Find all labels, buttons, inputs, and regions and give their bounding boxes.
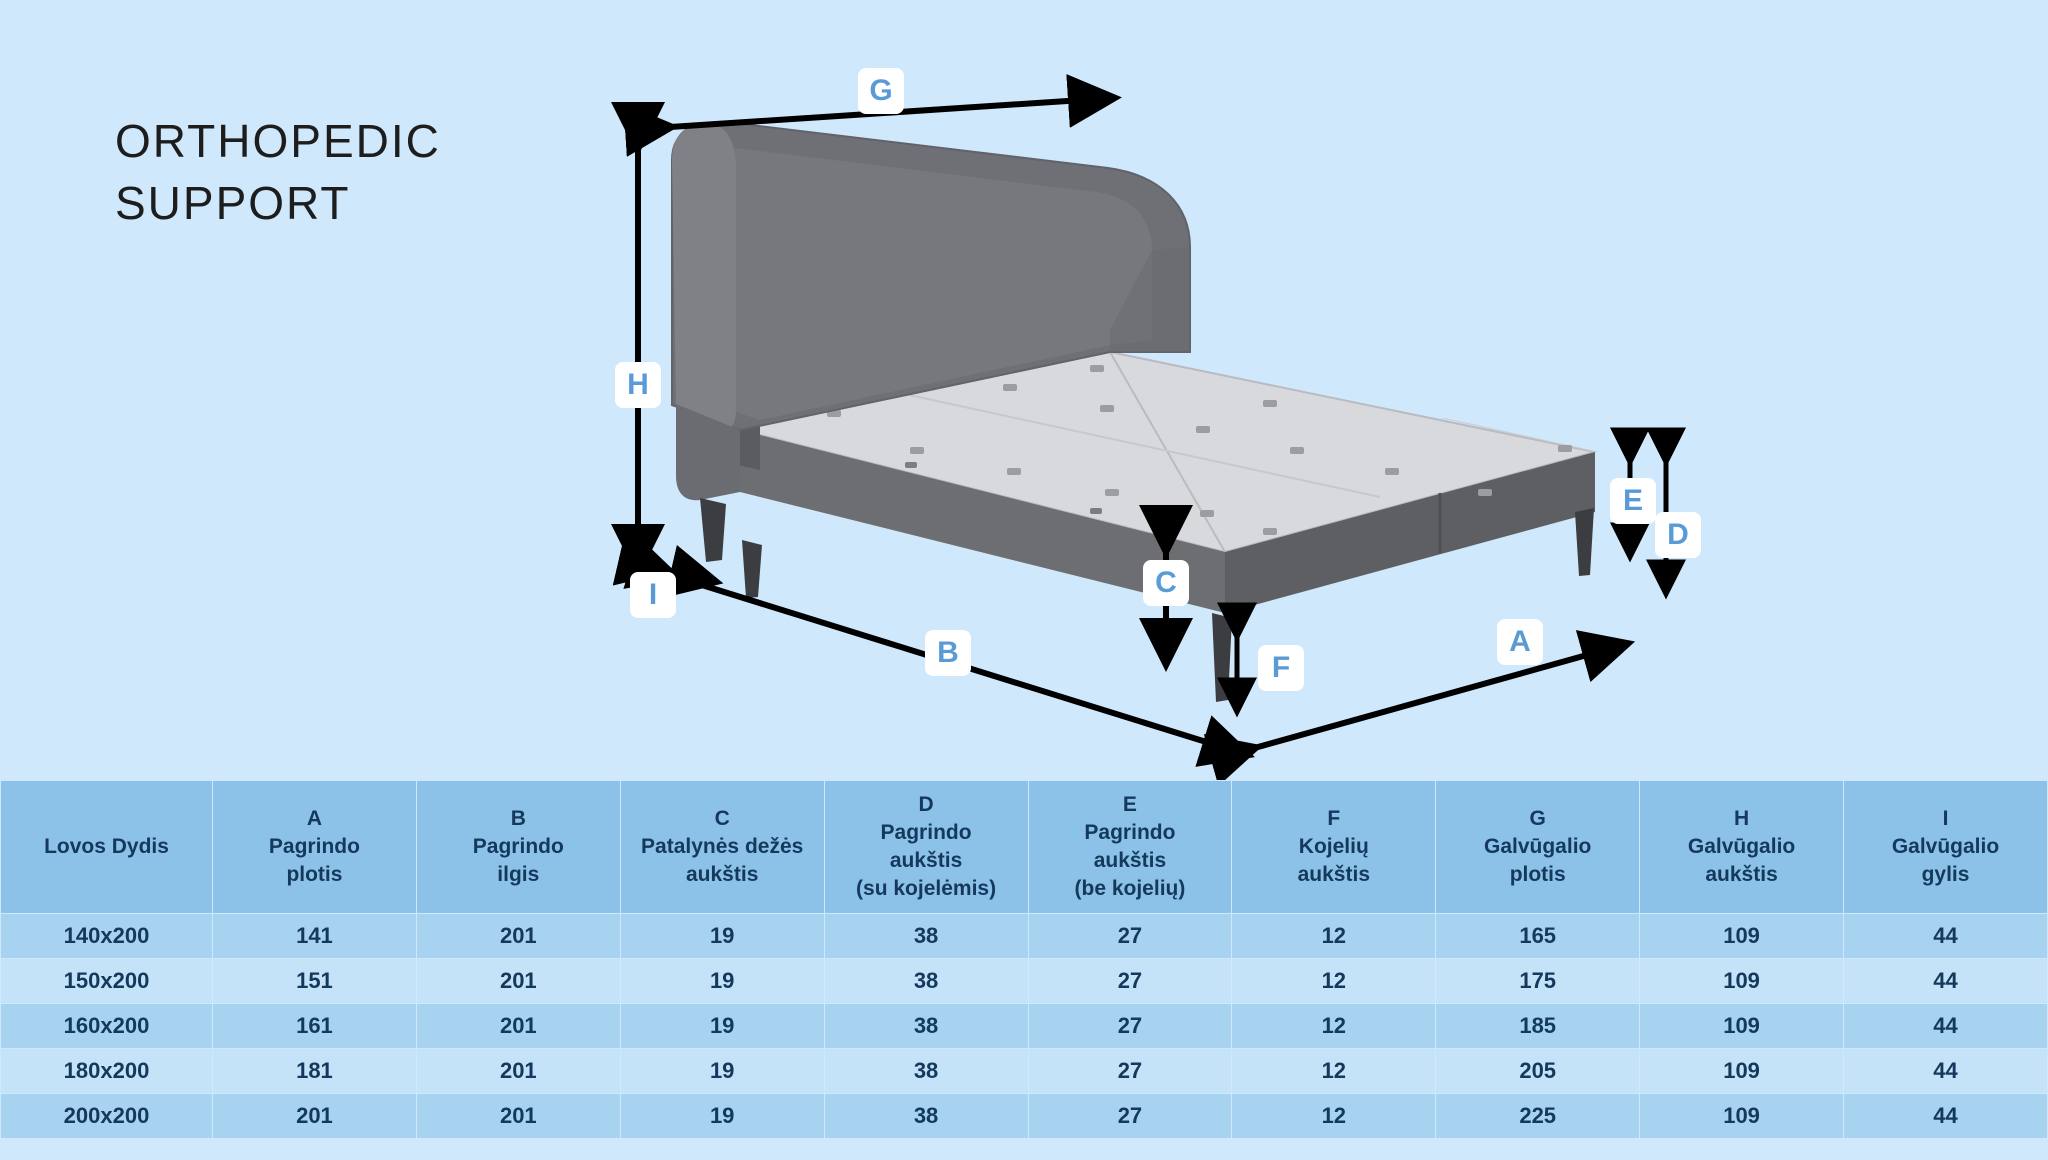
table-body: 140x200 141 201 19 38 27 12 165 109 44 1… xyxy=(1,914,2048,1139)
dimension-label-g: G xyxy=(858,68,904,114)
table-cell: 175 xyxy=(1436,959,1640,1004)
header-line: aukštis xyxy=(890,849,962,872)
header-letter: D xyxy=(829,791,1024,819)
header-letter: H xyxy=(1644,805,1839,833)
table-cell: 27 xyxy=(1028,1049,1232,1094)
table-cell: 27 xyxy=(1028,1004,1232,1049)
table-cell: 44 xyxy=(1844,1004,2048,1049)
table-cell: 201 xyxy=(416,914,620,959)
table-cell: 180x200 xyxy=(1,1049,213,1094)
header-letter: C xyxy=(625,805,820,833)
header-line: ilgis xyxy=(497,863,539,886)
dimension-label-c: C xyxy=(1143,560,1189,606)
table-header-cell: D Pagrindo aukštis (su kojelėmis) xyxy=(824,781,1028,914)
table-cell: 12 xyxy=(1232,959,1436,1004)
table-cell: 27 xyxy=(1028,1094,1232,1139)
table-cell: 38 xyxy=(824,959,1028,1004)
table-header-cell: E Pagrindo aukštis (be kojelių) xyxy=(1028,781,1232,914)
table-cell: 140x200 xyxy=(1,914,213,959)
table-header-row: Lovos Dydis A Pagrindo plotis B Pagrindo… xyxy=(1,781,2048,914)
header-line: Patalynės dežės xyxy=(641,835,803,858)
table-header-cell: Lovos Dydis xyxy=(1,781,213,914)
table-cell: 151 xyxy=(213,959,417,1004)
table-cell: 27 xyxy=(1028,959,1232,1004)
header-line: aukštis xyxy=(686,863,758,886)
table-cell: 44 xyxy=(1844,914,2048,959)
dimension-label-d: D xyxy=(1655,512,1701,558)
table-cell: 109 xyxy=(1640,1004,1844,1049)
header-line: Kojelių xyxy=(1299,835,1369,858)
header-line: Pagrindo xyxy=(1084,821,1175,844)
table-cell: 200x200 xyxy=(1,1094,213,1139)
table-header-cell: G Galvūgalio plotis xyxy=(1436,781,1640,914)
dimension-label-a: A xyxy=(1497,619,1543,665)
table-cell: 12 xyxy=(1232,1094,1436,1139)
table-cell: 44 xyxy=(1844,959,2048,1004)
header-line: aukštis xyxy=(1094,849,1166,872)
header-line: (su kojelėmis) xyxy=(856,877,996,900)
header-letter: I xyxy=(1848,805,2043,833)
table-cell: 160x200 xyxy=(1,1004,213,1049)
table-cell: 109 xyxy=(1640,1049,1844,1094)
header-letter: G xyxy=(1440,805,1635,833)
table-cell: 38 xyxy=(824,1049,1028,1094)
table-row: 140x200 141 201 19 38 27 12 165 109 44 xyxy=(1,914,2048,959)
header-line: gylis xyxy=(1922,863,1970,886)
table-cell: 38 xyxy=(824,1094,1028,1139)
table-row: 150x200 151 201 19 38 27 12 175 109 44 xyxy=(1,959,2048,1004)
table-row: 160x200 161 201 19 38 27 12 185 109 44 xyxy=(1,1004,2048,1049)
size-table: Lovos Dydis A Pagrindo plotis B Pagrindo… xyxy=(0,780,2048,1139)
header-line: aukštis xyxy=(1705,863,1777,886)
header-line: Galvūgalio xyxy=(1892,835,1999,858)
bed-diagram-svg xyxy=(0,0,2048,780)
table-cell: 225 xyxy=(1436,1094,1640,1139)
header-letter: A xyxy=(217,805,412,833)
header-line: aukštis xyxy=(1298,863,1370,886)
header-line: Pagrindo xyxy=(269,835,360,858)
table-cell: 19 xyxy=(620,1094,824,1139)
bed-illustration: G H I B A C E D F xyxy=(0,0,2048,780)
table-header-cell: F Kojelių aukštis xyxy=(1232,781,1436,914)
header-letter: F xyxy=(1236,805,1431,833)
table-cell: 44 xyxy=(1844,1049,2048,1094)
table-cell: 38 xyxy=(824,1004,1028,1049)
header-line: Pagrindo xyxy=(473,835,564,858)
table-header-cell: B Pagrindo ilgis xyxy=(416,781,620,914)
dimension-label-i: I xyxy=(630,572,676,618)
table-cell: 19 xyxy=(620,959,824,1004)
table-cell: 201 xyxy=(416,1094,620,1139)
table-cell: 181 xyxy=(213,1049,417,1094)
table-cell: 109 xyxy=(1640,1094,1844,1139)
table-header-cell: C Patalynės dežės aukštis xyxy=(620,781,824,914)
table-cell: 205 xyxy=(1436,1049,1640,1094)
dimension-label-b: B xyxy=(925,630,971,676)
table-cell: 201 xyxy=(213,1094,417,1139)
table-header-cell: H Galvūgalio aukštis xyxy=(1640,781,1844,914)
table-cell: 150x200 xyxy=(1,959,213,1004)
table-cell: 12 xyxy=(1232,1049,1436,1094)
table-cell: 201 xyxy=(416,959,620,1004)
header-line: Lovos Dydis xyxy=(44,835,169,858)
table-cell: 38 xyxy=(824,914,1028,959)
header-line: (be kojelių) xyxy=(1075,877,1186,900)
header-letter: B xyxy=(421,805,616,833)
header-line: plotis xyxy=(286,863,342,886)
table-cell: 44 xyxy=(1844,1094,2048,1139)
dimension-label-h: H xyxy=(615,362,661,408)
table-cell: 165 xyxy=(1436,914,1640,959)
header-letter: E xyxy=(1033,791,1228,819)
table-cell: 19 xyxy=(620,1004,824,1049)
table-row: 200x200 201 201 19 38 27 12 225 109 44 xyxy=(1,1094,2048,1139)
dimension-label-f: F xyxy=(1258,645,1304,691)
table-cell: 109 xyxy=(1640,914,1844,959)
table-row: 180x200 181 201 19 38 27 12 205 109 44 xyxy=(1,1049,2048,1094)
table-cell: 19 xyxy=(620,1049,824,1094)
table-cell: 201 xyxy=(416,1004,620,1049)
header-line: plotis xyxy=(1510,863,1566,886)
table-header-cell: A Pagrindo plotis xyxy=(213,781,417,914)
table-cell: 27 xyxy=(1028,914,1232,959)
table-header-cell: I Galvūgalio gylis xyxy=(1844,781,2048,914)
table-cell: 201 xyxy=(416,1049,620,1094)
table-cell: 12 xyxy=(1232,914,1436,959)
dimension-label-e: E xyxy=(1610,478,1656,524)
table-cell: 185 xyxy=(1436,1004,1640,1049)
table-cell: 161 xyxy=(213,1004,417,1049)
table-cell: 141 xyxy=(213,914,417,959)
header-line: Galvūgalio xyxy=(1688,835,1795,858)
table-cell: 109 xyxy=(1640,959,1844,1004)
header-line: Galvūgalio xyxy=(1484,835,1591,858)
table-cell: 12 xyxy=(1232,1004,1436,1049)
size-table-wrapper: Lovos Dydis A Pagrindo plotis B Pagrindo… xyxy=(0,780,2048,1139)
table-cell: 19 xyxy=(620,914,824,959)
header-line: Pagrindo xyxy=(881,821,972,844)
